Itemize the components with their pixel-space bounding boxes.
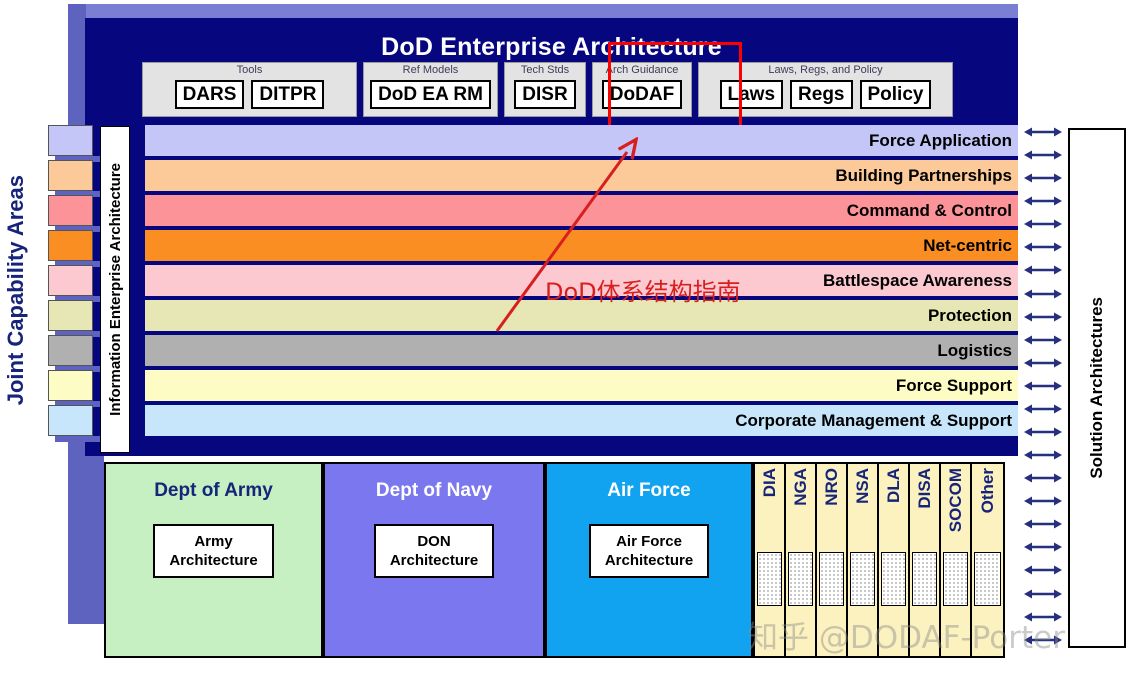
service-box-air-force[interactable]: Air ForceAir ForceArchitecture — [545, 462, 753, 658]
iea-band-label: Information Enterprise Architecture — [107, 163, 124, 416]
service-architecture-line: Architecture — [169, 551, 257, 570]
watermark: 知乎 @DODAF-Porter — [747, 612, 1065, 657]
joint-capability-areas-axis: Joint Capability Areas — [0, 130, 36, 450]
agency-architecture-placeholder[interactable] — [974, 552, 1001, 606]
agency-name-label: NGA — [791, 468, 811, 506]
service-architecture-box[interactable]: Air ForceArchitecture — [589, 524, 709, 578]
capability-row[interactable]: Building Partnerships — [145, 160, 1018, 191]
bidirectional-arrow-column — [1020, 126, 1066, 646]
toolbar-group-items: DoD EA RM — [370, 77, 491, 112]
service-architecture-box[interactable]: ArmyArchitecture — [153, 524, 273, 578]
chinese-annotation: DoD体系结构指南 — [545, 272, 741, 307]
agency-architecture-placeholder[interactable] — [881, 552, 906, 606]
toolbar-group-label: Arch Guidance — [606, 64, 679, 77]
capability-row-label: Corporate Management & Support — [735, 411, 1012, 431]
box-3d-left-lower — [68, 452, 104, 624]
bidirectional-arrow-icon — [1022, 357, 1064, 369]
bidirectional-arrow-icon — [1022, 172, 1064, 184]
capability-row[interactable]: Force Application — [145, 125, 1018, 156]
toolbar-group-items: DARSDITPR — [175, 77, 325, 112]
agency-name-label: NRO — [822, 468, 842, 506]
agency-name-label: DIA — [760, 468, 780, 497]
agency-architecture-placeholder[interactable] — [788, 552, 813, 606]
capability-color-swatch — [48, 265, 93, 296]
capability-color-swatch — [48, 370, 93, 401]
page-title: DoD Enterprise Architecture — [85, 33, 1018, 62]
bidirectional-arrow-icon — [1022, 495, 1064, 507]
toolbar-group-label: Tech Stds — [521, 64, 569, 77]
bidirectional-arrow-icon — [1022, 518, 1064, 530]
agency-architecture-placeholder[interactable] — [819, 552, 844, 606]
solution-architectures-axis: Solution Architectures — [1068, 128, 1126, 648]
agency-name-label: SOCOM — [946, 468, 966, 532]
capability-row[interactable]: Corporate Management & Support — [145, 405, 1018, 436]
toolbar-group-label: Tools — [237, 64, 263, 77]
bidirectional-arrow-icon — [1022, 403, 1064, 415]
toolbar-button-dod-ea-rm[interactable]: DoD EA RM — [370, 80, 491, 109]
agency-architecture-placeholder[interactable] — [943, 552, 968, 606]
agency-name: NRO — [817, 464, 846, 552]
capability-color-swatch — [48, 195, 93, 226]
solution-architectures-label: Solution Architectures — [1087, 297, 1107, 479]
agency-name-label: NSA — [853, 468, 873, 504]
agency-name: Other — [972, 464, 1003, 552]
service-architecture-line: Architecture — [390, 551, 478, 570]
service-architecture-line: Army — [169, 532, 257, 551]
capability-row-label: Battlespace Awareness — [823, 271, 1012, 291]
bidirectional-arrow-icon — [1022, 449, 1064, 461]
bidirectional-arrow-icon — [1022, 195, 1064, 207]
bidirectional-arrow-icon — [1022, 380, 1064, 392]
capability-color-swatch — [48, 160, 93, 191]
bidirectional-arrow-icon — [1022, 218, 1064, 230]
capability-row-label: Net-centric — [923, 236, 1012, 256]
toolbar: ToolsDARSDITPRRef ModelsDoD EA RMTech St… — [142, 62, 954, 117]
capability-color-swatch — [48, 300, 93, 331]
bidirectional-arrow-icon — [1022, 472, 1064, 484]
agency-name-label: Other — [978, 468, 998, 513]
service-architecture-line: DON — [390, 532, 478, 551]
agency-name: SOCOM — [941, 464, 970, 552]
service-architecture-line: Air Force — [605, 532, 693, 551]
bidirectional-arrow-icon — [1022, 149, 1064, 161]
joint-capability-areas-label: Joint Capability Areas — [3, 175, 29, 405]
bidirectional-arrow-icon — [1022, 541, 1064, 553]
capability-row-label: Protection — [928, 306, 1012, 326]
agency-name: DLA — [879, 464, 908, 552]
bidirectional-arrow-icon — [1022, 126, 1064, 138]
bidirectional-arrow-icon — [1022, 426, 1064, 438]
bidirectional-arrow-icon — [1022, 288, 1064, 300]
toolbar-group-tools: ToolsDARSDITPR — [142, 62, 357, 117]
service-architecture-box[interactable]: DONArchitecture — [374, 524, 494, 578]
agency-name: DISA — [910, 464, 939, 552]
agency-architecture-placeholder[interactable] — [850, 552, 875, 606]
bidirectional-arrow-icon — [1022, 241, 1064, 253]
toolbar-button-policy[interactable]: Policy — [860, 80, 932, 109]
information-enterprise-architecture-band: Information Enterprise Architecture — [100, 126, 130, 453]
toolbar-button-laws[interactable]: Laws — [720, 80, 784, 109]
capability-color-swatch — [48, 405, 93, 436]
service-box-dept-of-navy[interactable]: Dept of NavyDONArchitecture — [323, 462, 545, 658]
capability-color-swatch — [48, 335, 93, 366]
toolbar-group-arch-guidance: Arch GuidanceDoDAF — [592, 62, 692, 117]
agency-architecture-placeholder[interactable] — [912, 552, 937, 606]
capability-color-swatch — [48, 125, 93, 156]
capability-row[interactable]: Logistics — [145, 335, 1018, 366]
service-title: Dept of Army — [154, 480, 273, 502]
capability-swatch-shadow — [55, 436, 100, 442]
toolbar-group-tech-stds: Tech StdsDISR — [504, 62, 586, 117]
agency-name: DIA — [755, 464, 784, 552]
capability-row-label: Building Partnerships — [835, 166, 1012, 186]
toolbar-group-items: DoDAF — [602, 77, 682, 112]
capability-row[interactable]: Net-centric — [145, 230, 1018, 261]
capability-row[interactable]: Command & Control — [145, 195, 1018, 226]
toolbar-button-dodaf[interactable]: DoDAF — [602, 80, 682, 109]
capability-color-swatch — [48, 230, 93, 261]
agency-architecture-placeholder[interactable] — [757, 552, 782, 606]
agency-name: NGA — [786, 464, 815, 552]
capability-row-label: Logistics — [937, 341, 1012, 361]
toolbar-group-label: Laws, Regs, and Policy — [768, 64, 882, 77]
bidirectional-arrow-icon — [1022, 334, 1064, 346]
capability-row-label: Command & Control — [847, 201, 1012, 221]
bidirectional-arrow-icon — [1022, 564, 1064, 576]
service-title: Air Force — [607, 480, 690, 502]
toolbar-button-disr[interactable]: DISR — [514, 80, 575, 109]
diagram-canvas: DoD Enterprise Architecture ToolsDARSDIT… — [0, 0, 1136, 675]
capability-row-label: Force Application — [869, 131, 1012, 151]
toolbar-group-items: DISR — [514, 77, 575, 112]
toolbar-button-dars[interactable]: DARS — [175, 80, 245, 109]
bidirectional-arrow-icon — [1022, 588, 1064, 600]
toolbar-group-label: Ref Models — [403, 64, 459, 77]
service-architecture-line: Architecture — [605, 551, 693, 570]
toolbar-button-ditpr[interactable]: DITPR — [251, 80, 324, 109]
capability-row-label: Force Support — [896, 376, 1012, 396]
service-title: Dept of Navy — [376, 480, 492, 502]
toolbar-button-regs[interactable]: Regs — [790, 80, 852, 109]
agency-name: NSA — [848, 464, 877, 552]
bidirectional-arrow-icon — [1022, 311, 1064, 323]
toolbar-group-items: LawsRegsPolicy — [720, 77, 932, 112]
bidirectional-arrow-icon — [1022, 264, 1064, 276]
agency-name-label: DISA — [915, 468, 935, 509]
toolbar-group-laws-regs-and-policy: Laws, Regs, and PolicyLawsRegsPolicy — [698, 62, 953, 117]
toolbar-group-ref-models: Ref ModelsDoD EA RM — [363, 62, 498, 117]
capability-row[interactable]: Force Support — [145, 370, 1018, 401]
service-box-dept-of-army[interactable]: Dept of ArmyArmyArchitecture — [104, 462, 323, 658]
agency-name-label: DLA — [884, 468, 904, 503]
